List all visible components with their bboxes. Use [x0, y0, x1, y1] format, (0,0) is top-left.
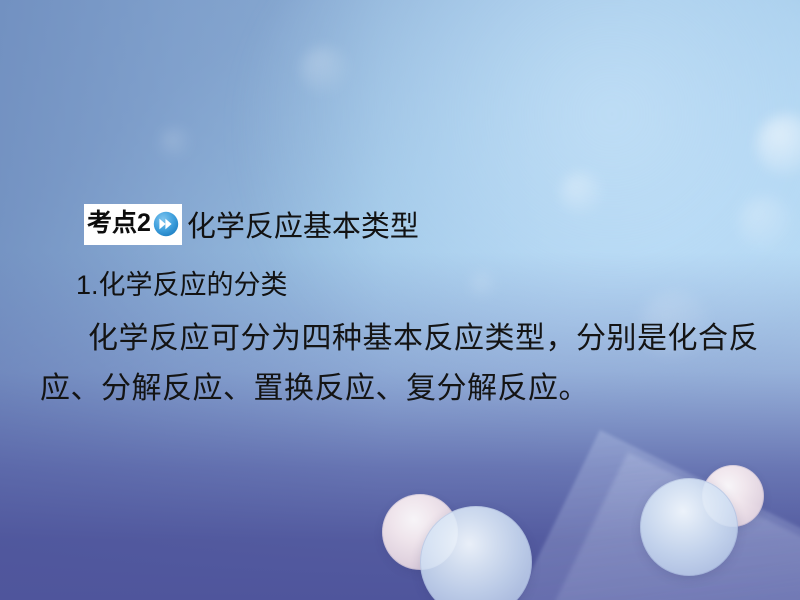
slide-canvas: 考点2 [0, 0, 800, 600]
kaodian-badge-label: 考点2 [87, 211, 151, 236]
page-title: 化学反应基本类型 [187, 203, 419, 245]
section-subheading: 1.化学反应的分类 [76, 263, 288, 302]
heading-row: 考点2 [84, 203, 419, 245]
kaodian-badge: 考点2 [84, 204, 182, 245]
body-paragraph: 化学反应可分为四种基本反应类型，分别是化合反应、分解反应、置换反应、复分解反应。 [40, 314, 770, 414]
fast-forward-icon [153, 211, 179, 237]
slide-content: 考点2 [0, 0, 800, 600]
